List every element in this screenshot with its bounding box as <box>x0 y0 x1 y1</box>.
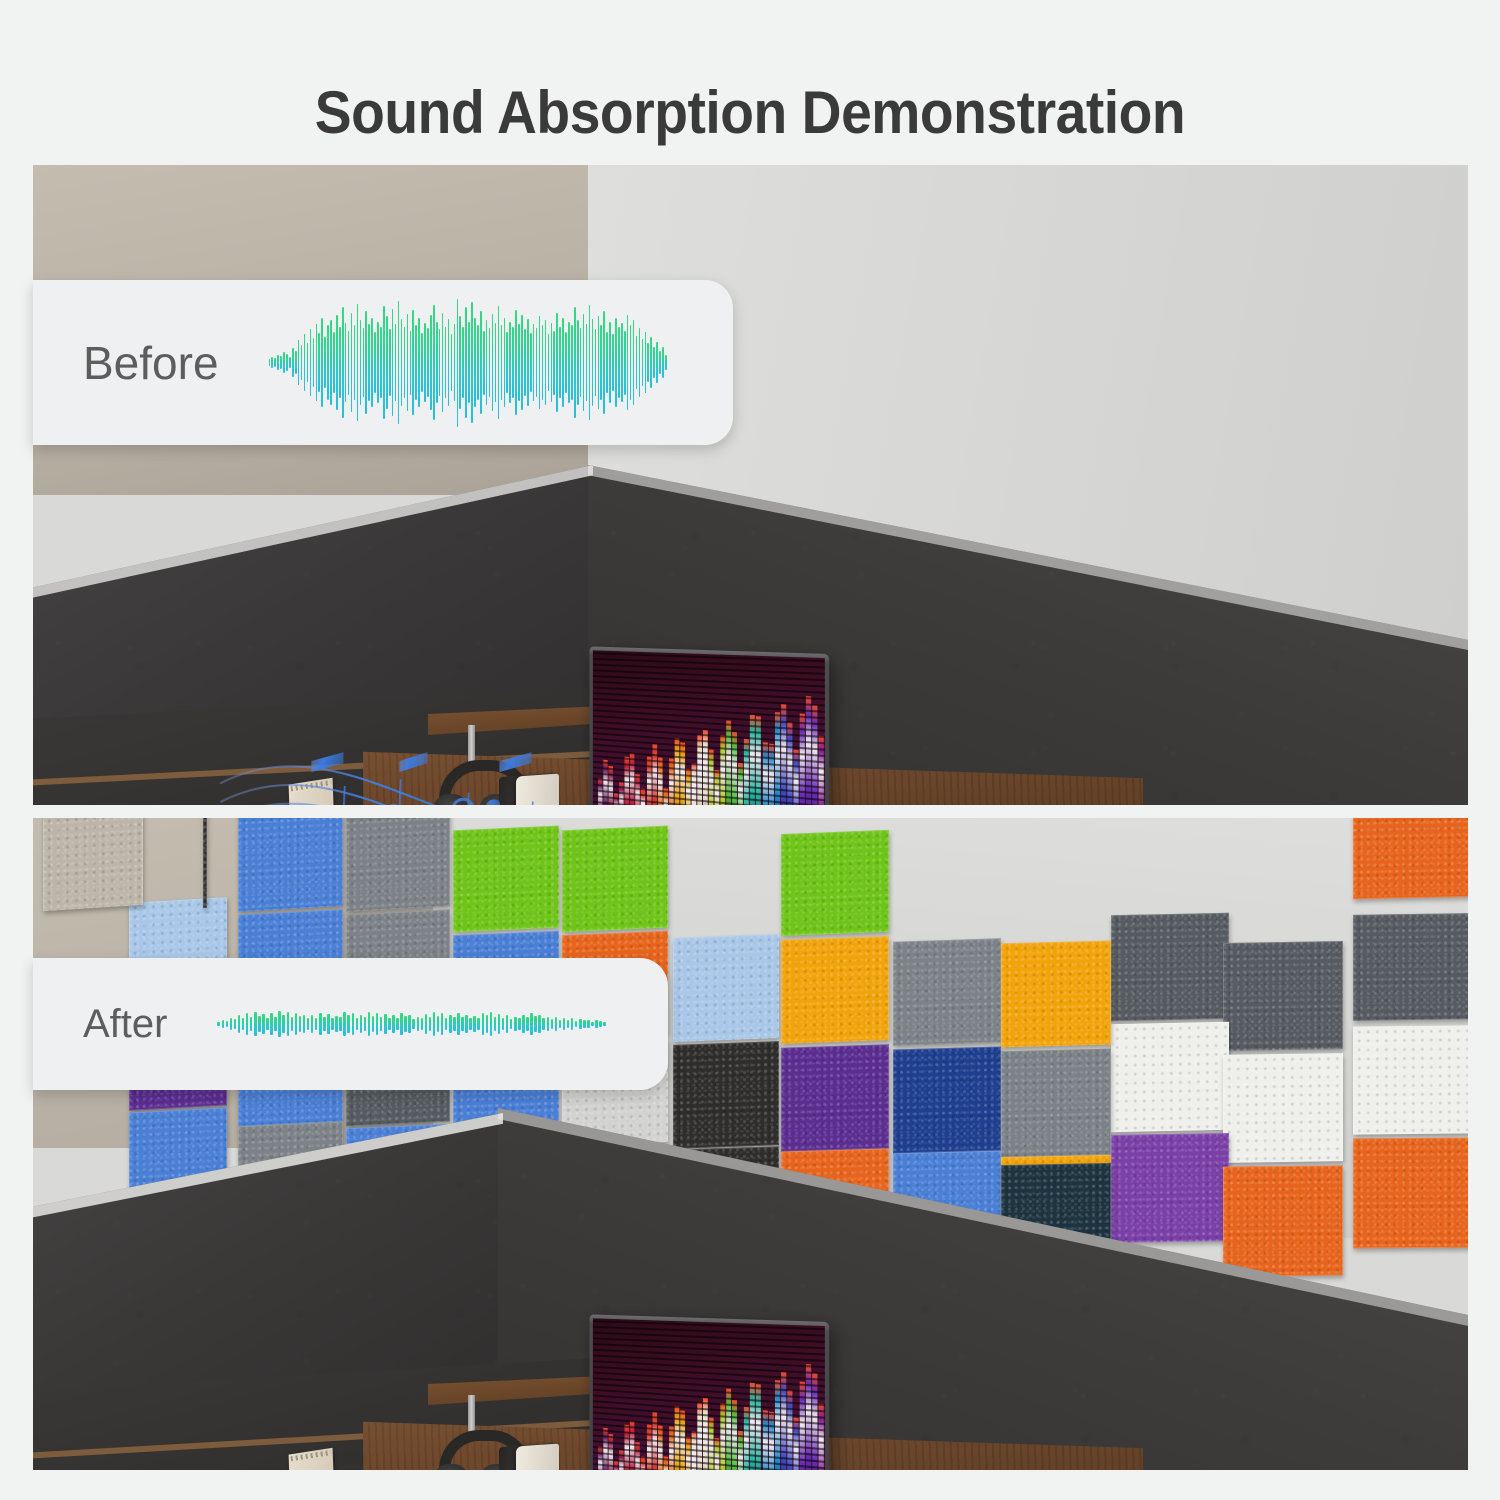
monitor-bezel: BenQ <box>589 1314 829 1470</box>
acoustic-panel-tile <box>781 1044 889 1151</box>
waveform-bar <box>457 1013 459 1035</box>
waveform-bar <box>498 1014 500 1034</box>
waveform-bar <box>427 328 429 397</box>
waveform-bar <box>226 1021 228 1027</box>
waveform-bar <box>539 316 541 408</box>
waveform-bar <box>498 306 500 419</box>
waveform-bar <box>542 1018 544 1029</box>
waveform-bar <box>633 320 635 404</box>
waveform-bar <box>575 1021 577 1027</box>
after-label-card: After <box>33 958 668 1090</box>
waveform-bar <box>630 325 632 399</box>
waveform-bar <box>583 1020 585 1027</box>
waveform-bar <box>401 319 403 406</box>
waveform-bar <box>234 1019 236 1029</box>
waveform-bar <box>371 318 373 408</box>
waveform-bar <box>451 334 453 390</box>
acoustic-panel-tile <box>1223 941 1343 1051</box>
waveform-bar <box>269 359 271 367</box>
acoustic-panel-tile <box>1111 913 1229 1021</box>
waveform-bar <box>436 322 438 404</box>
waveform-bar <box>347 1015 349 1032</box>
acoustic-panel-tile <box>1001 941 1111 1048</box>
waveform-bar <box>548 334 550 390</box>
waveform-bar <box>586 324 588 401</box>
acoustic-panel-tile <box>781 936 889 1044</box>
waveform-bar <box>473 1016 475 1032</box>
waveform-bar <box>433 1012 435 1036</box>
waveform-bar <box>392 1015 394 1032</box>
waveform-bar <box>384 1014 386 1034</box>
waveform-bar <box>356 1018 358 1030</box>
acoustic-panel-tile <box>1353 913 1468 1021</box>
waveform-bar <box>400 1013 402 1034</box>
waveform-bar <box>429 1017 431 1031</box>
waveform-bar <box>278 1011 280 1037</box>
waveform-bar <box>486 1015 488 1032</box>
waveform-bar <box>286 354 288 371</box>
acoustic-panel-tile <box>1001 1049 1111 1158</box>
waveform-bar <box>589 305 591 420</box>
waveform-bar <box>295 351 297 374</box>
waveform-bar <box>398 301 400 424</box>
waveform-bar <box>515 310 517 415</box>
waveform-bar <box>459 316 461 408</box>
speaker-face <box>516 1443 559 1470</box>
waveform-bar <box>551 1019 553 1029</box>
quiet-waveform <box>217 958 607 1090</box>
waveform-bar <box>522 1015 524 1034</box>
waveform-bar <box>665 355 667 370</box>
waveform-bar <box>555 1017 557 1031</box>
waveform-bar <box>506 332 508 393</box>
waveform-bar <box>291 1017 293 1031</box>
waveform-bar <box>274 358 276 367</box>
waveform-bar <box>289 357 291 369</box>
waveform-bar <box>282 1015 284 1034</box>
waveform-bar <box>595 329 597 396</box>
waveform-bar <box>274 1017 276 1032</box>
monitor-screen <box>593 1318 825 1470</box>
waveform-bar <box>321 318 323 408</box>
after-room-scene: BenQ <box>33 818 1468 1470</box>
waveform-bar <box>396 1018 398 1030</box>
waveform-bar <box>603 1022 605 1026</box>
page-title: Sound Absorption Demonstration <box>60 78 1440 147</box>
waveform-bar <box>577 320 579 404</box>
waveform-bar <box>348 331 350 395</box>
acoustic-panel-tile <box>1223 1165 1343 1276</box>
waveform-bar <box>551 323 553 402</box>
waveform-bar <box>567 1020 569 1027</box>
waveform-bar <box>579 1019 581 1029</box>
waveform-bar <box>521 315 523 410</box>
equalizer-grid-overlay <box>593 1318 825 1470</box>
waveform-bar <box>333 332 335 393</box>
acoustic-panel-tile <box>781 830 889 936</box>
waveform-bar <box>283 352 285 372</box>
waveform-bar <box>360 320 362 404</box>
waveform-bar <box>591 1022 593 1027</box>
waveform-bar <box>303 1015 305 1034</box>
waveform-bar <box>318 333 320 392</box>
waveform-bar <box>238 1015 240 1032</box>
waveform-bar <box>250 1017 252 1031</box>
waveform-bar <box>295 1013 297 1034</box>
before-room-scene: BenQ <box>33 165 1468 805</box>
waveform-bar <box>315 1018 317 1030</box>
waveform-bar <box>424 323 426 402</box>
waveform-bar <box>480 311 482 413</box>
waveform-bar <box>645 332 647 393</box>
waveform-bar <box>536 328 538 397</box>
waveform-bar <box>553 331 555 395</box>
waveform-bar <box>580 328 582 397</box>
waveform-bar <box>307 1018 309 1029</box>
waveform-bar <box>376 1013 378 1035</box>
waveform-bar <box>598 316 600 408</box>
waveform-bar <box>587 1020 589 1029</box>
waveform-bar <box>316 324 318 401</box>
waveform-bar <box>217 1022 219 1027</box>
waveform-bar <box>415 325 417 399</box>
equalizer-grid-overlay <box>593 650 825 805</box>
waveform-bar <box>307 343 309 381</box>
waveform-bar <box>425 1014 427 1034</box>
waveform-bar <box>262 1014 264 1034</box>
waveform-bar <box>636 336 638 390</box>
before-label: Before <box>83 336 219 390</box>
waveform-bar <box>559 1020 561 1029</box>
waveform-bar <box>534 1016 536 1032</box>
waveform-bar <box>410 331 412 395</box>
curved-monitor: BenQ <box>578 1318 863 1470</box>
monitor-screen <box>593 650 825 805</box>
waveform-bar <box>603 311 605 413</box>
waveform-bar <box>526 1017 528 1031</box>
waveform-bar <box>323 1017 325 1032</box>
waveform-bar <box>242 1018 244 1029</box>
loud-waveform <box>269 280 669 445</box>
waveform-bar <box>277 355 279 370</box>
waveform-bar <box>471 302 473 422</box>
acoustic-panel-tile <box>1353 1138 1468 1249</box>
waveform-bar <box>600 325 602 399</box>
waveform-bar <box>656 342 658 383</box>
monitor-bezel: BenQ <box>589 646 829 805</box>
waveform-bar <box>339 1017 341 1031</box>
waveform-bar <box>310 329 312 396</box>
waveform-bar <box>383 306 385 419</box>
waveform-bar <box>571 1018 573 1029</box>
waveform-bar <box>563 1018 565 1030</box>
waveform-bar <box>574 307 576 417</box>
waveform-bar <box>562 318 564 408</box>
waveform-bar <box>339 327 341 397</box>
waveform-bar <box>568 322 570 404</box>
waveform-bar <box>417 1017 419 1032</box>
acoustic-panel-tile <box>1111 1022 1229 1132</box>
waveform-bar <box>468 322 470 404</box>
acoustic-panel-tile <box>203 818 207 908</box>
waveform-bar <box>386 316 388 408</box>
waveform-bar <box>313 338 315 387</box>
waveform-bar <box>330 320 332 404</box>
waveform-bar <box>389 329 391 396</box>
panel-divider <box>33 805 1468 818</box>
waveform-bar <box>437 1016 439 1032</box>
waveform-bar <box>266 1018 268 1030</box>
waveform-bar <box>512 327 514 399</box>
waveform-bar <box>627 315 629 410</box>
waveform-bar <box>324 337 326 388</box>
waveform-bar <box>477 325 479 399</box>
acoustic-panel-tile <box>453 826 559 933</box>
waveform-bar <box>445 1018 447 1030</box>
waveform-bar <box>457 299 459 427</box>
speaker-face <box>516 773 559 805</box>
waveform-bar <box>421 1018 423 1029</box>
waveform-bar <box>465 1015 467 1034</box>
waveform-bar <box>442 313 444 413</box>
waveform-bar <box>556 313 558 413</box>
waveform-bar <box>504 318 506 408</box>
acoustic-panel-tile <box>893 938 1001 1045</box>
waveform-bar <box>336 315 338 410</box>
waveform-bar <box>372 1016 374 1032</box>
acoustic-panel-tile <box>43 818 143 911</box>
waveform-bar <box>449 1015 451 1032</box>
waveform-bar <box>418 318 420 408</box>
waveform-bar <box>595 1020 597 1027</box>
waveform-bar <box>483 331 485 395</box>
waveform-bar <box>363 328 365 397</box>
waveform-bar <box>482 1013 484 1034</box>
waveform-bar <box>565 332 567 393</box>
waveform-bar <box>364 1017 366 1032</box>
before-panel-image: BenQ <box>33 165 1468 805</box>
waveform-bar <box>621 323 623 402</box>
waveform-bar <box>351 313 353 413</box>
waveform-bar <box>380 327 382 399</box>
waveform-bar <box>412 1019 414 1029</box>
waveform-bar <box>374 332 376 393</box>
desktop-speaker <box>499 775 559 805</box>
waveform-bar <box>662 347 664 378</box>
waveform-bar <box>271 357 273 369</box>
acoustic-panel-tile <box>562 826 668 933</box>
waveform-bar <box>388 1018 390 1029</box>
waveform-bar <box>421 333 423 392</box>
waveform-bar <box>368 324 370 401</box>
waveform-bar <box>653 347 655 378</box>
waveform-bar <box>647 343 649 381</box>
waveform-bar <box>392 309 394 417</box>
waveform-bar <box>612 334 614 390</box>
waveform-bar <box>474 318 476 408</box>
waveform-bar <box>462 327 464 399</box>
waveform-bar <box>368 1012 370 1037</box>
curved-monitor: BenQ <box>578 650 863 805</box>
acoustic-panel-tile <box>673 1041 779 1149</box>
waveform-bar <box>311 1015 313 1032</box>
waveform-bar <box>448 319 450 406</box>
acoustic-panel-tile <box>346 818 450 912</box>
waveform-bar <box>559 327 561 399</box>
waveform-bar <box>509 322 511 404</box>
desktop-speaker <box>499 1445 559 1470</box>
waveform-bar <box>501 325 503 399</box>
waveform-bar <box>469 1018 471 1029</box>
waveform-bar <box>441 1013 443 1034</box>
waveform-bar <box>360 1015 362 1034</box>
waveform-bar <box>357 304 359 422</box>
acoustic-panel-tile <box>673 934 779 1042</box>
waveform-bar <box>270 1013 272 1035</box>
waveform-bar <box>331 1018 333 1029</box>
waveform-bar <box>518 1018 520 1029</box>
waveform-bar <box>477 1018 479 1030</box>
waveform-bar <box>502 1018 504 1030</box>
waveform-bar <box>354 325 356 399</box>
waveform-bar <box>489 328 491 397</box>
waveform-bar <box>615 318 617 408</box>
after-panel-image: BenQ <box>33 818 1468 1470</box>
waveform-bar <box>352 1013 354 1034</box>
waveform-bar <box>461 1017 463 1032</box>
waveform-bar <box>518 324 520 401</box>
waveform-bar <box>583 314 585 411</box>
waveform-bar <box>404 1016 406 1032</box>
waveform-bar <box>280 356 282 369</box>
waveform-bar <box>524 329 526 396</box>
acoustic-panel-tile <box>1353 818 1468 899</box>
waveform-bar <box>547 1017 549 1032</box>
waveform-bar <box>454 324 456 401</box>
waveform-bar <box>404 327 406 399</box>
waveform-bar <box>618 327 620 399</box>
waveform-bar <box>490 1012 492 1037</box>
acoustic-panel-tile <box>1223 1053 1343 1163</box>
waveform-bar <box>495 323 497 402</box>
waveform-bar <box>514 1017 516 1032</box>
waveform-bar <box>606 332 608 393</box>
waveform-bar <box>506 1015 508 1032</box>
waveform-bar <box>258 1016 260 1032</box>
waveform-bar <box>465 307 467 417</box>
waveform-bar <box>430 315 432 410</box>
waveform-bar <box>342 307 344 417</box>
waveform-bar <box>380 1017 382 1031</box>
waveform-bar <box>571 325 573 399</box>
waveform-bar <box>453 1017 455 1031</box>
waveform-bar <box>530 333 532 392</box>
waveform-bar <box>319 1013 321 1035</box>
waveform-bar <box>650 337 652 388</box>
acoustic-panel-tile <box>1353 1025 1468 1134</box>
waveform-bar <box>327 325 329 399</box>
waveform-bar <box>292 348 294 376</box>
waveform-bar <box>407 314 409 411</box>
waveform-bar <box>395 324 397 401</box>
waveform-bar <box>287 1012 289 1036</box>
waveform-bar <box>510 1019 512 1029</box>
waveform-bar <box>486 320 488 404</box>
waveform-bar <box>533 324 535 401</box>
waveform-bar <box>538 1015 540 1032</box>
waveform-bar <box>412 310 414 415</box>
waveform-bar <box>639 328 641 397</box>
waveform-bar <box>365 311 367 413</box>
after-label: After <box>83 1002 167 1047</box>
waveform-bar <box>343 1012 345 1036</box>
waveform-bar <box>642 339 644 385</box>
waveform-bar <box>230 1018 232 1030</box>
waveform-bar <box>609 322 611 404</box>
waveform-bar <box>377 322 379 404</box>
waveform-bar <box>254 1012 256 1037</box>
before-label-card: Before <box>33 280 733 445</box>
waveform-bar <box>301 345 303 380</box>
waveform-bar <box>439 329 441 396</box>
waveform-bar <box>545 320 547 404</box>
waveform-bar <box>246 1013 248 1034</box>
waveform-bar <box>492 314 494 411</box>
waveform-bar <box>335 1016 337 1032</box>
waveform-bar <box>494 1017 496 1032</box>
waveform-bar <box>299 1016 301 1032</box>
waveform-bar <box>599 1021 601 1027</box>
waveform-bar <box>542 325 544 399</box>
waveform-bar <box>445 327 447 399</box>
waveform-bar <box>624 331 626 395</box>
acoustic-panel-tile <box>893 1046 1001 1153</box>
waveform-bar <box>527 319 529 406</box>
waveform-bar <box>222 1020 224 1029</box>
waveform-bar <box>298 340 300 385</box>
acoustic-panel-tile <box>1111 1133 1229 1243</box>
waveform-bar <box>304 334 306 390</box>
waveform-bar <box>327 1014 329 1034</box>
waveform-bar <box>408 1015 410 1034</box>
waveform-bar <box>530 1013 532 1034</box>
acoustic-panel-tile <box>238 818 343 912</box>
waveform-bar <box>659 351 661 374</box>
waveform-bar <box>433 305 435 420</box>
waveform-bar <box>592 319 594 406</box>
waveform-bar <box>345 323 347 402</box>
